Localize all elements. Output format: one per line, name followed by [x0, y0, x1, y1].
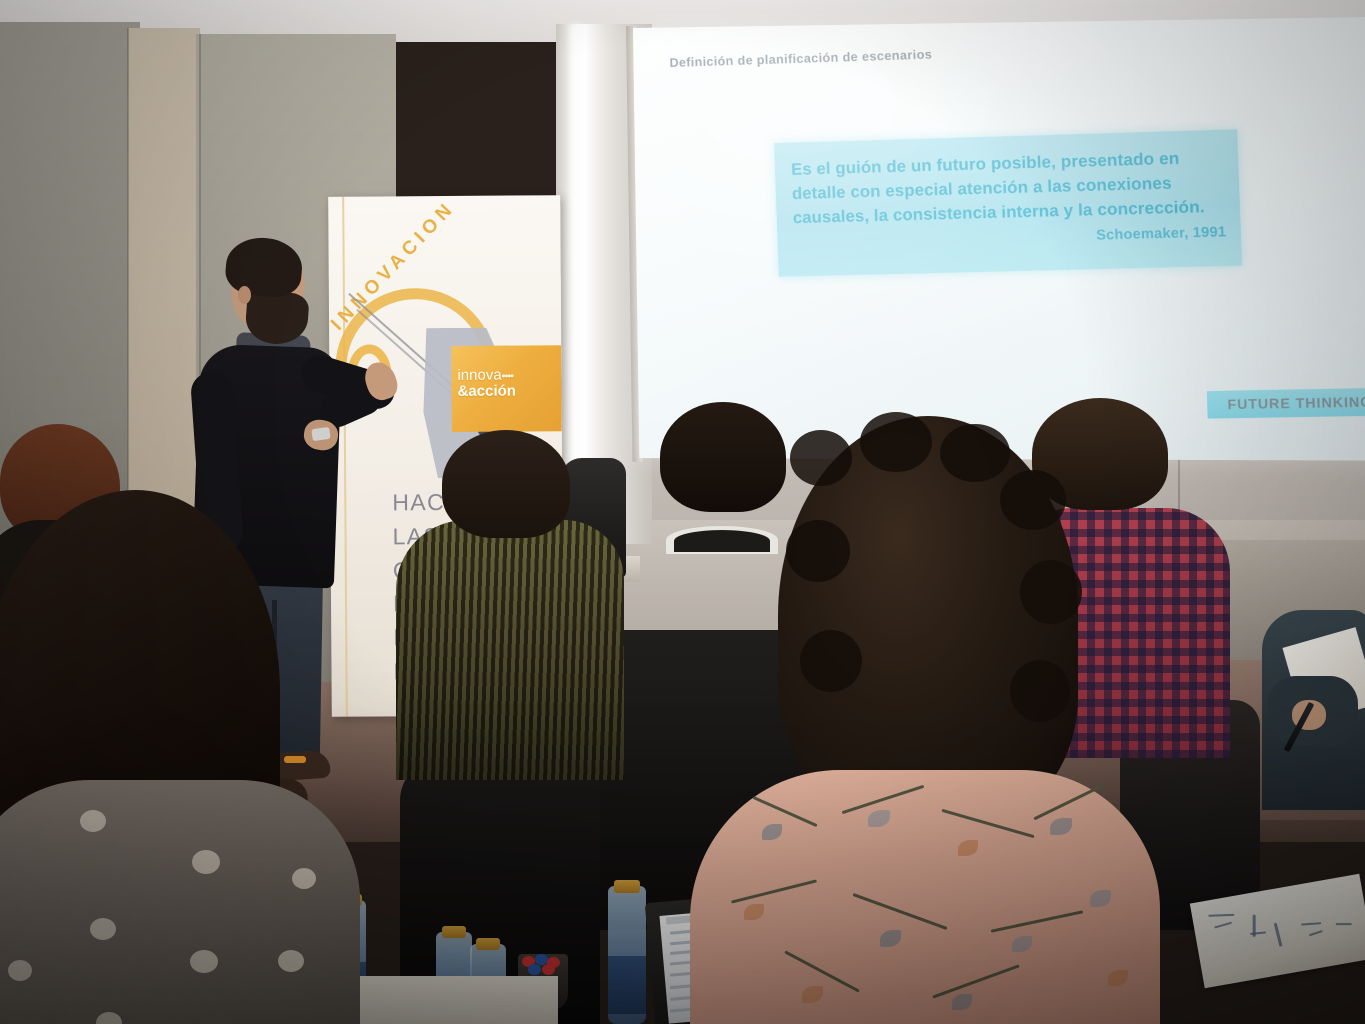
- bottle-cap: [476, 938, 500, 950]
- floral-petal: [1090, 890, 1111, 907]
- presentation-room-photo: Definición de planificación de escenario…: [0, 0, 1365, 1024]
- hair-curl: [860, 412, 932, 472]
- window-light-glare: [566, 24, 588, 524]
- banner-logo-line1: innova: [457, 367, 501, 384]
- banner-logo-line2: &acción: [457, 382, 515, 399]
- attendee-striped-shading: [396, 520, 624, 780]
- floral-petal: [762, 824, 782, 840]
- bottle-cap: [614, 880, 640, 893]
- presenter-shoelace: [284, 756, 306, 763]
- presenter-ear: [238, 286, 251, 304]
- bottle-label: [608, 956, 646, 1014]
- banner-logo-dots: ••••: [502, 371, 513, 383]
- floral-stem: [941, 809, 1034, 838]
- hair-curl: [786, 520, 850, 582]
- handwriting-stroke: [1274, 923, 1283, 947]
- presentation-clicker: [311, 427, 330, 441]
- handwriting-stroke: [1208, 914, 1234, 917]
- floral-petal: [744, 904, 764, 920]
- handwriting-stroke: [1250, 931, 1266, 935]
- floral-petal: [1050, 818, 1072, 835]
- floral-petal: [880, 930, 901, 947]
- attendee-curly-floral-blouse: [690, 770, 1160, 1024]
- attendee-front-left-polka-top: [0, 780, 360, 1024]
- attendee-striped-hair: [442, 430, 570, 538]
- slide-title: Definición de planificación de escenario…: [669, 47, 932, 70]
- hair-curl: [1020, 560, 1082, 624]
- polka-dot: [190, 950, 218, 973]
- floral-petal: [802, 986, 823, 1003]
- projection-screen: Definición de planificación de escenario…: [633, 17, 1365, 461]
- polka-dot: [80, 810, 106, 832]
- slide-quote-attribution: Schoemaker, 1991: [1096, 223, 1227, 243]
- attendee-tan-collar-inner: [674, 530, 770, 552]
- hair-curl: [1000, 470, 1066, 530]
- attendee-tan-hair: [660, 402, 786, 512]
- polka-dot: [8, 960, 32, 981]
- polka-dot: [292, 868, 316, 889]
- handwriting-stroke: [1301, 922, 1321, 925]
- floral-stem: [1033, 783, 1106, 821]
- hair-curl: [800, 630, 862, 692]
- future-thinking-badge-label: FUTURE THINKING: [1227, 394, 1365, 412]
- floral-petal: [868, 810, 890, 827]
- floral-stem: [932, 964, 1019, 998]
- candy-piece: [542, 964, 555, 975]
- polka-dot: [192, 850, 220, 874]
- slide-quote-text: Es el guión de un futuro posible, presen…: [791, 146, 1230, 230]
- polka-dot: [96, 1012, 122, 1024]
- banner-rule: [342, 197, 347, 717]
- floral-stem: [752, 796, 817, 827]
- future-thinking-badge: FUTURE THINKING: [1207, 388, 1365, 419]
- floral-petal: [1108, 970, 1128, 986]
- hair-curl: [940, 424, 1010, 482]
- handwriting-stroke: [1309, 930, 1323, 936]
- floral-petal: [952, 994, 972, 1010]
- handwriting-stroke: [1336, 923, 1352, 925]
- bottle-cap: [442, 926, 466, 938]
- floral-petal: [958, 840, 978, 856]
- polka-dot: [90, 918, 116, 940]
- handwriting-stroke: [1214, 922, 1232, 929]
- candy-piece: [528, 964, 541, 975]
- polka-dot: [278, 950, 304, 972]
- slide-quote-box: Es el guión de un futuro posible, presen…: [774, 129, 1242, 277]
- banner-logo: innova•••• &acción: [457, 367, 563, 399]
- floral-petal: [1012, 936, 1032, 952]
- floral-stem: [853, 893, 948, 930]
- floral-stem: [991, 910, 1084, 932]
- hair-curl: [790, 430, 852, 486]
- floral-stem: [731, 879, 817, 903]
- hair-curl: [1010, 660, 1070, 722]
